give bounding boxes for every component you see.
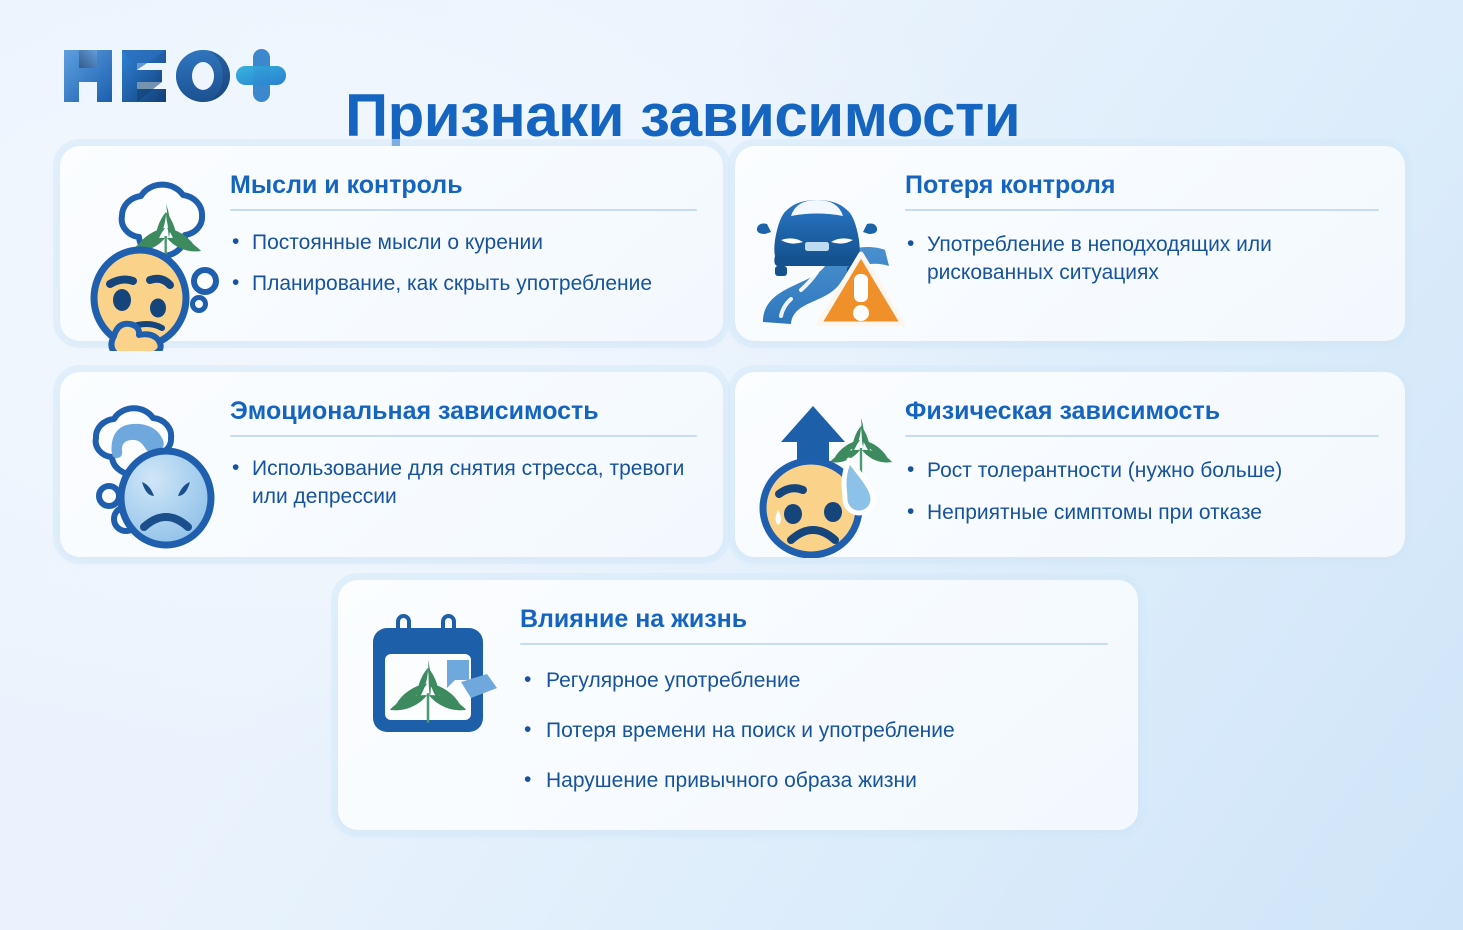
page-title: Признаки зависимости (345, 84, 1020, 148)
card-physical-dependence-bullets: Рост толерантности (нужно больше) Неприя… (905, 457, 1379, 527)
heading-rule (230, 435, 697, 437)
list-item: Употребление в неподходящих или рискован… (905, 231, 1379, 287)
infographic-canvas: Признаки зависимости (0, 0, 1463, 930)
card-thoughts-body: Мысли и контроль Постоянные мысли о куре… (230, 170, 697, 311)
card-impact-on-life-heading: Влияние на жизнь (520, 604, 1108, 634)
list-item: Рост толерантности (нужно больше) (905, 457, 1379, 485)
heading-rule (905, 435, 1379, 437)
calendar-with-cannabis-leaf-icon (360, 612, 520, 742)
card-thoughts-bullets: Постоянные мысли о курении Планирование,… (230, 229, 697, 298)
card-loss-of-control-heading: Потеря контроля (905, 170, 1379, 200)
list-item: Нарушение привычного образа жизни (520, 767, 1108, 795)
list-item: Постоянные мысли о курении (230, 229, 697, 257)
card-physical-dependence-body: Физическая зависимость Рост толерантност… (905, 396, 1379, 541)
list-item: Использование для снятия стресса, тревог… (230, 455, 697, 511)
list-item: Планирование, как скрыть употребление (230, 270, 697, 298)
card-emotional-dependence-heading: Эмоциональная зависимость (230, 396, 697, 426)
card-emotional-dependence: Эмоциональная зависимость Использование … (60, 372, 723, 557)
card-loss-of-control: Потеря контроля Употребление в неподходя… (735, 146, 1405, 341)
card-loss-of-control-bullets: Употребление в неподходящих или рискован… (905, 231, 1379, 287)
card-emotional-dependence-bullets: Использование для снятия стресса, тревог… (230, 455, 697, 511)
card-physical-dependence-heading: Физическая зависимость (905, 396, 1379, 426)
card-thoughts: Мысли и контроль Постоянные мысли о куре… (60, 146, 723, 341)
card-impact-on-life: Влияние на жизнь Регулярное употребление… (338, 580, 1138, 830)
list-item: Регулярное употребление (520, 667, 1108, 695)
heo-plus-logo (60, 44, 290, 108)
sweating-sad-face-with-up-arrow-and-cannabis-leaf-icon (753, 398, 905, 558)
card-emotional-dependence-body: Эмоциональная зависимость Использование … (230, 396, 697, 511)
card-impact-on-life-bullets: Регулярное употребление Потеря времени н… (520, 667, 1108, 795)
card-thoughts-heading: Мысли и контроль (230, 170, 697, 200)
card-loss-of-control-body: Потеря контроля Употребление в неподходя… (905, 170, 1379, 287)
heading-rule (905, 209, 1379, 211)
heading-rule (230, 209, 697, 211)
thinking-face-with-cannabis-thought-bubble-icon (78, 176, 230, 351)
sad-blue-face-with-thought-bubble-icon (78, 402, 230, 552)
heading-rule (520, 643, 1108, 645)
car-on-winding-road-with-warning-triangle-icon (753, 174, 905, 334)
card-physical-dependence: Физическая зависимость Рост толерантност… (735, 372, 1405, 557)
card-impact-on-life-body: Влияние на жизнь Регулярное употребление… (520, 604, 1108, 817)
list-item: Потеря времени на поиск и употребление (520, 717, 1108, 745)
list-item: Неприятные симптомы при отказе (905, 499, 1379, 527)
